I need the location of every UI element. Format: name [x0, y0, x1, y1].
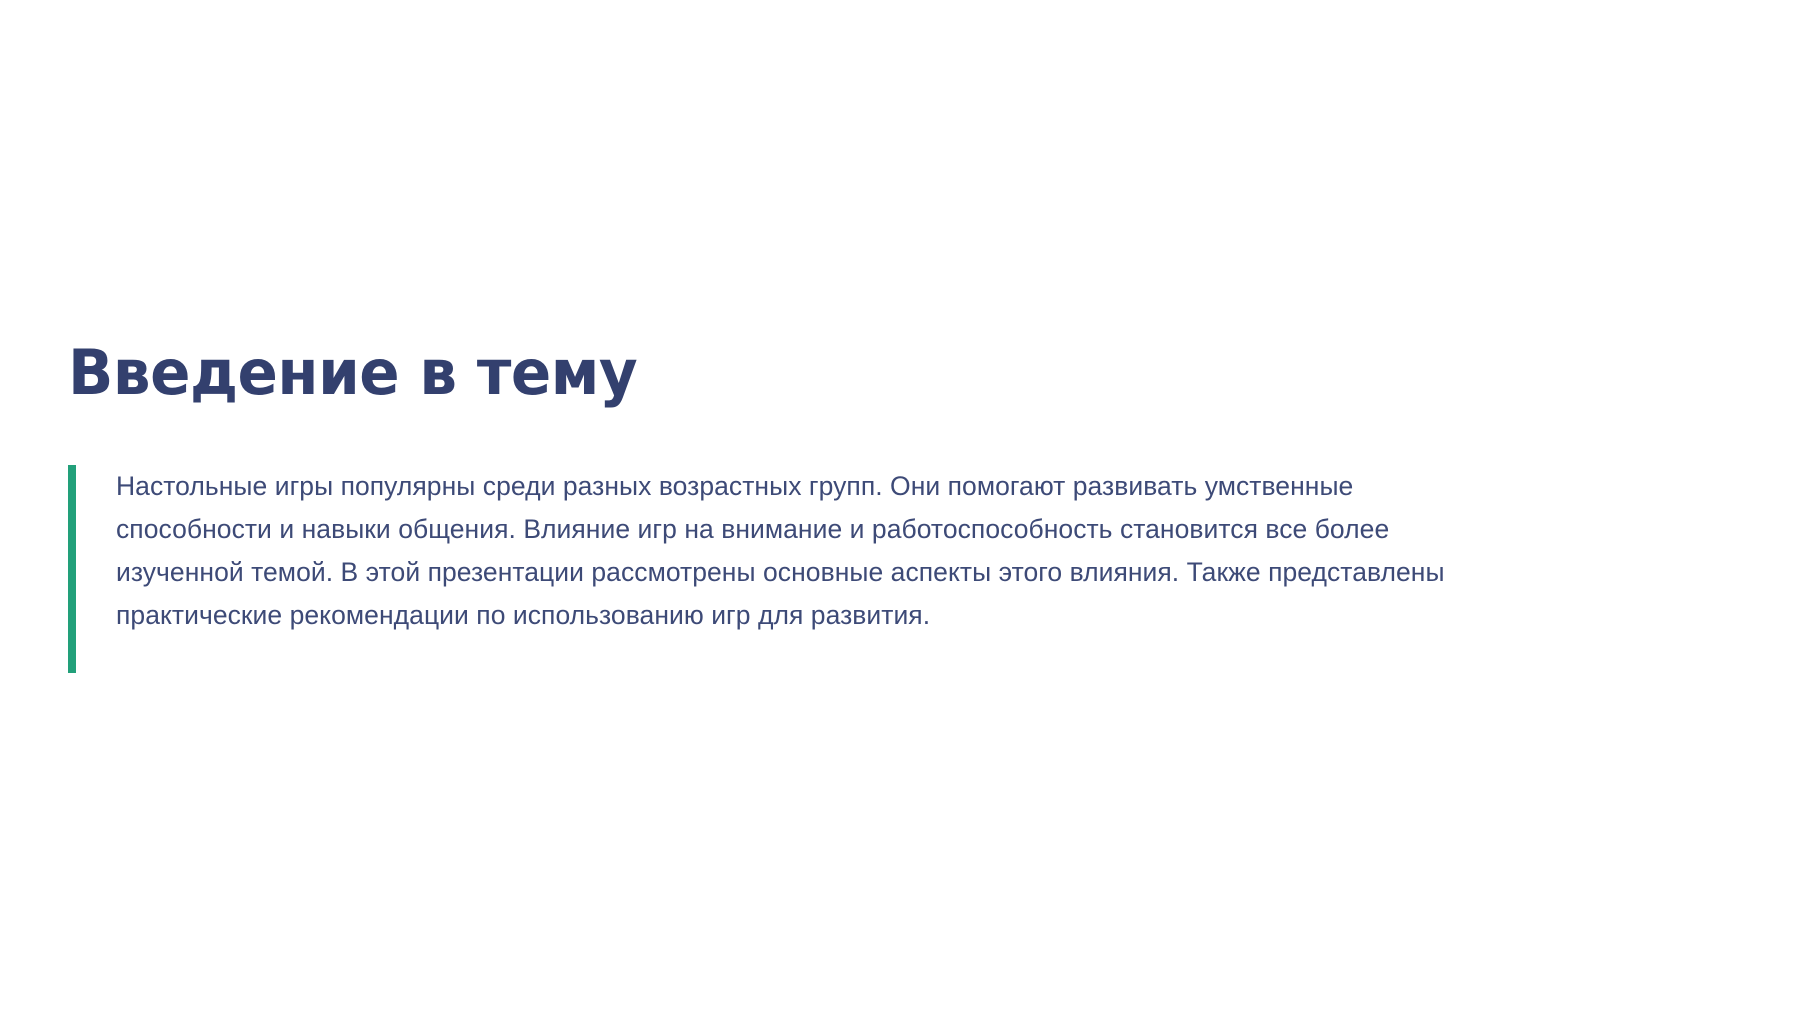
- body-block: Настольные игры популярны среди разных в…: [68, 465, 1528, 673]
- body-paragraph: Настольные игры популярны среди разных в…: [76, 465, 1516, 673]
- presentation-slide: Введение в тему Настольные игры популярн…: [0, 0, 1800, 1013]
- accent-bar: [68, 465, 76, 673]
- page-title: Введение в тему: [68, 340, 637, 406]
